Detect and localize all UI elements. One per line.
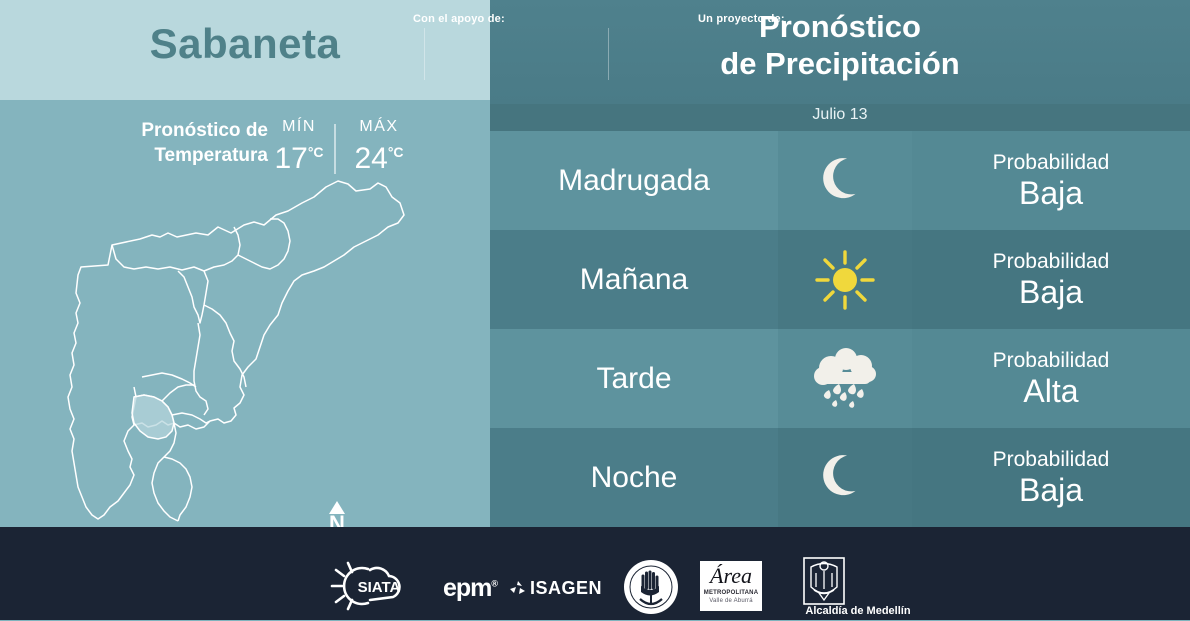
temperature-title-line1: Pronóstico de bbox=[141, 120, 268, 141]
probability-level: Baja bbox=[993, 276, 1110, 308]
table-row: Noche Probabilidad Baja bbox=[490, 428, 1190, 527]
area-logo-sub2: Valle de Aburrá bbox=[700, 598, 762, 604]
footer bbox=[0, 527, 1190, 620]
medellin-seal-logo[interactable] bbox=[622, 558, 680, 621]
isagen-logo-text: ISAGEN bbox=[530, 578, 602, 598]
period-label: Tarde bbox=[596, 362, 671, 396]
moon-icon bbox=[814, 447, 876, 509]
medellin-seal-icon bbox=[622, 558, 680, 616]
isagen-mark-icon bbox=[509, 580, 527, 596]
area-metropolitana-logo[interactable]: Área METROPOLITANA Valle de Aburrá bbox=[700, 561, 762, 611]
page-title: Sabaneta bbox=[0, 20, 490, 68]
precipitation-title-line2: de Precipitación bbox=[720, 46, 959, 81]
siata-logo-icon: SIATA bbox=[330, 560, 426, 612]
support-caption: Con el apoyo de: bbox=[413, 13, 505, 25]
probability-level: Alta bbox=[993, 375, 1110, 407]
forecast-probability-cell: Probabilidad Baja bbox=[912, 230, 1190, 329]
right-panel: Pronóstico de Precipitación Julio 13 Mad… bbox=[490, 0, 1190, 527]
area-logo-script: Área bbox=[700, 563, 762, 589]
forecast-icon-cell bbox=[778, 131, 912, 230]
area-logo-sub1: METROPOLITANA bbox=[700, 590, 762, 596]
epm-logo[interactable]: epm® bbox=[443, 574, 497, 603]
footer-divider bbox=[424, 28, 425, 80]
project-caption: Un proyecto de: bbox=[698, 13, 785, 25]
forecast-icon-cell bbox=[778, 329, 912, 428]
forecast-probability-cell: Probabilidad Alta bbox=[912, 329, 1190, 428]
epm-registered-mark: ® bbox=[491, 579, 497, 589]
forecast-period-cell: Madrugada bbox=[490, 131, 778, 230]
epm-logo-text: epm bbox=[443, 574, 491, 602]
forecast-rows: Madrugada Probabilidad Baja Mañan bbox=[490, 131, 1190, 527]
probability-word: Probabilidad bbox=[993, 152, 1110, 173]
temperature-title-line2: Temperatura bbox=[154, 145, 268, 166]
moon-icon bbox=[814, 150, 876, 212]
temperature-title: Pronóstico de Temperatura bbox=[88, 118, 268, 168]
temperature-max-unit: °C bbox=[388, 144, 404, 160]
alcaldia-shield-icon bbox=[803, 557, 845, 605]
forecast-icon-cell bbox=[778, 428, 912, 527]
forecast-period-cell: Noche bbox=[490, 428, 778, 527]
period-label: Noche bbox=[591, 461, 678, 495]
probability-word: Probabilidad bbox=[993, 251, 1110, 272]
temperature-min-label: MÍN bbox=[268, 118, 330, 136]
temperature-min-unit: °C bbox=[308, 144, 324, 160]
forecast-icon-cell bbox=[778, 230, 912, 329]
period-label: Madrugada bbox=[558, 164, 710, 198]
temperature-max: MÁX 24°C bbox=[344, 118, 414, 175]
forecast-period-cell: Tarde bbox=[490, 329, 778, 428]
temperature-divider bbox=[334, 124, 336, 174]
temperature-max-value-wrap: 24°C bbox=[344, 136, 414, 175]
forecast-probability-cell: Probabilidad Baja bbox=[912, 131, 1190, 230]
table-row: Mañana bbox=[490, 230, 1190, 329]
forecast-probability-cell: Probabilidad Baja bbox=[912, 428, 1190, 527]
temperature-min-value: 17 bbox=[274, 142, 307, 175]
probability-word: Probabilidad bbox=[993, 350, 1110, 371]
probability-word: Probabilidad bbox=[993, 449, 1110, 470]
isagen-logo[interactable]: ISAGEN bbox=[509, 578, 602, 599]
alcaldia-label: Alcaldía de Medellín bbox=[772, 605, 944, 617]
weather-infographic: Sabaneta Pronóstico de Temperatura MÍN 1… bbox=[0, 0, 1190, 620]
left-panel: Sabaneta Pronóstico de Temperatura MÍN 1… bbox=[0, 0, 490, 527]
temperature-min: MÍN 17°C bbox=[268, 118, 330, 175]
temperature-max-label: MÁX bbox=[344, 118, 414, 136]
municipality-map: N bbox=[48, 175, 448, 525]
table-row: Tarde bbox=[490, 329, 1190, 428]
precipitation-title: Pronóstico de Precipitación bbox=[490, 8, 1190, 82]
probability-level: Baja bbox=[993, 474, 1110, 506]
siata-logo[interactable]: SIATA bbox=[330, 560, 426, 617]
alcaldia-crest-icon[interactable] bbox=[803, 557, 845, 610]
footer-divider bbox=[608, 28, 609, 80]
table-row: Madrugada Probabilidad Baja bbox=[490, 131, 1190, 230]
map-svg bbox=[48, 175, 448, 525]
temperature-max-value: 24 bbox=[354, 142, 387, 175]
map-highlight-sabaneta bbox=[132, 395, 174, 439]
sun-icon bbox=[814, 249, 876, 311]
rain-cloud-icon bbox=[809, 346, 881, 412]
period-label: Mañana bbox=[580, 263, 688, 297]
probability-level: Baja bbox=[993, 177, 1110, 209]
siata-logo-text: SIATA bbox=[358, 579, 401, 596]
temperature-forecast: Pronóstico de Temperatura MÍN 17°C MÁX 2… bbox=[0, 118, 490, 180]
forecast-date: Julio 13 bbox=[490, 106, 1190, 124]
forecast-period-cell: Mañana bbox=[490, 230, 778, 329]
temperature-min-value-wrap: 17°C bbox=[268, 136, 330, 175]
